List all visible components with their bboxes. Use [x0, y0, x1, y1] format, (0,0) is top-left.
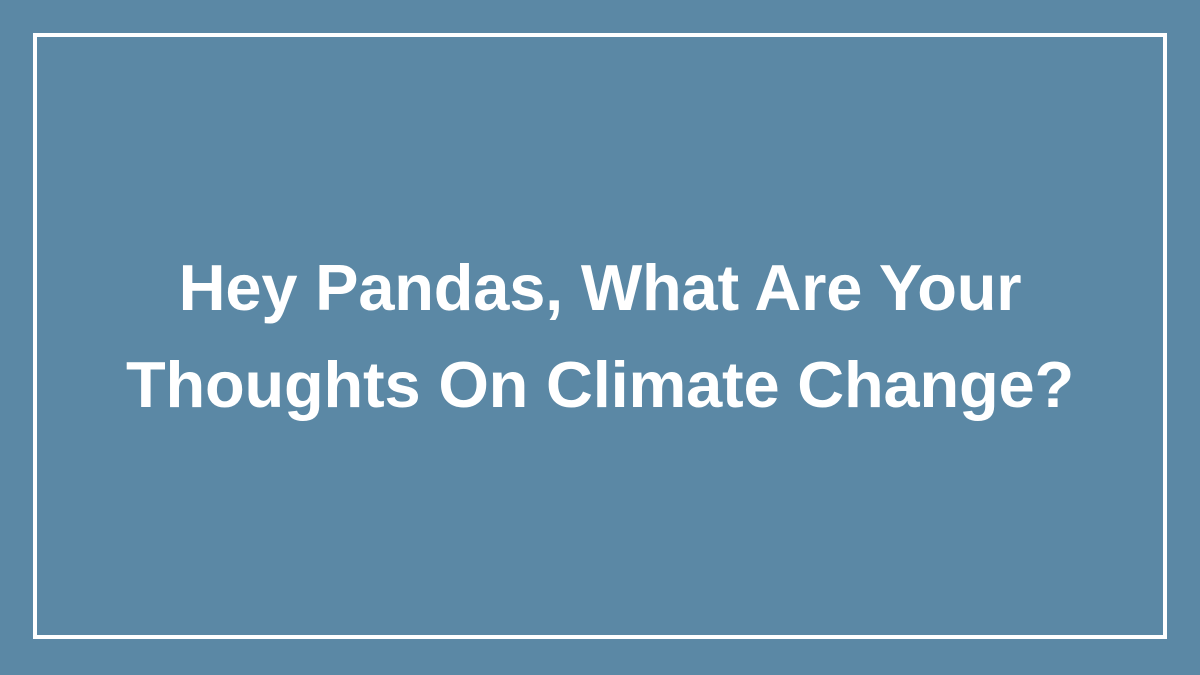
page-title-line-1: Hey Pandas, What Are Your — [126, 239, 1074, 336]
page-title: Hey Pandas, What Are Your Thoughts On Cl… — [126, 239, 1074, 433]
page-title-line-2: Thoughts On Climate Change? — [126, 336, 1074, 433]
headline-container: Hey Pandas, What Are Your Thoughts On Cl… — [33, 33, 1167, 639]
title-card-canvas: Hey Pandas, What Are Your Thoughts On Cl… — [0, 0, 1200, 675]
